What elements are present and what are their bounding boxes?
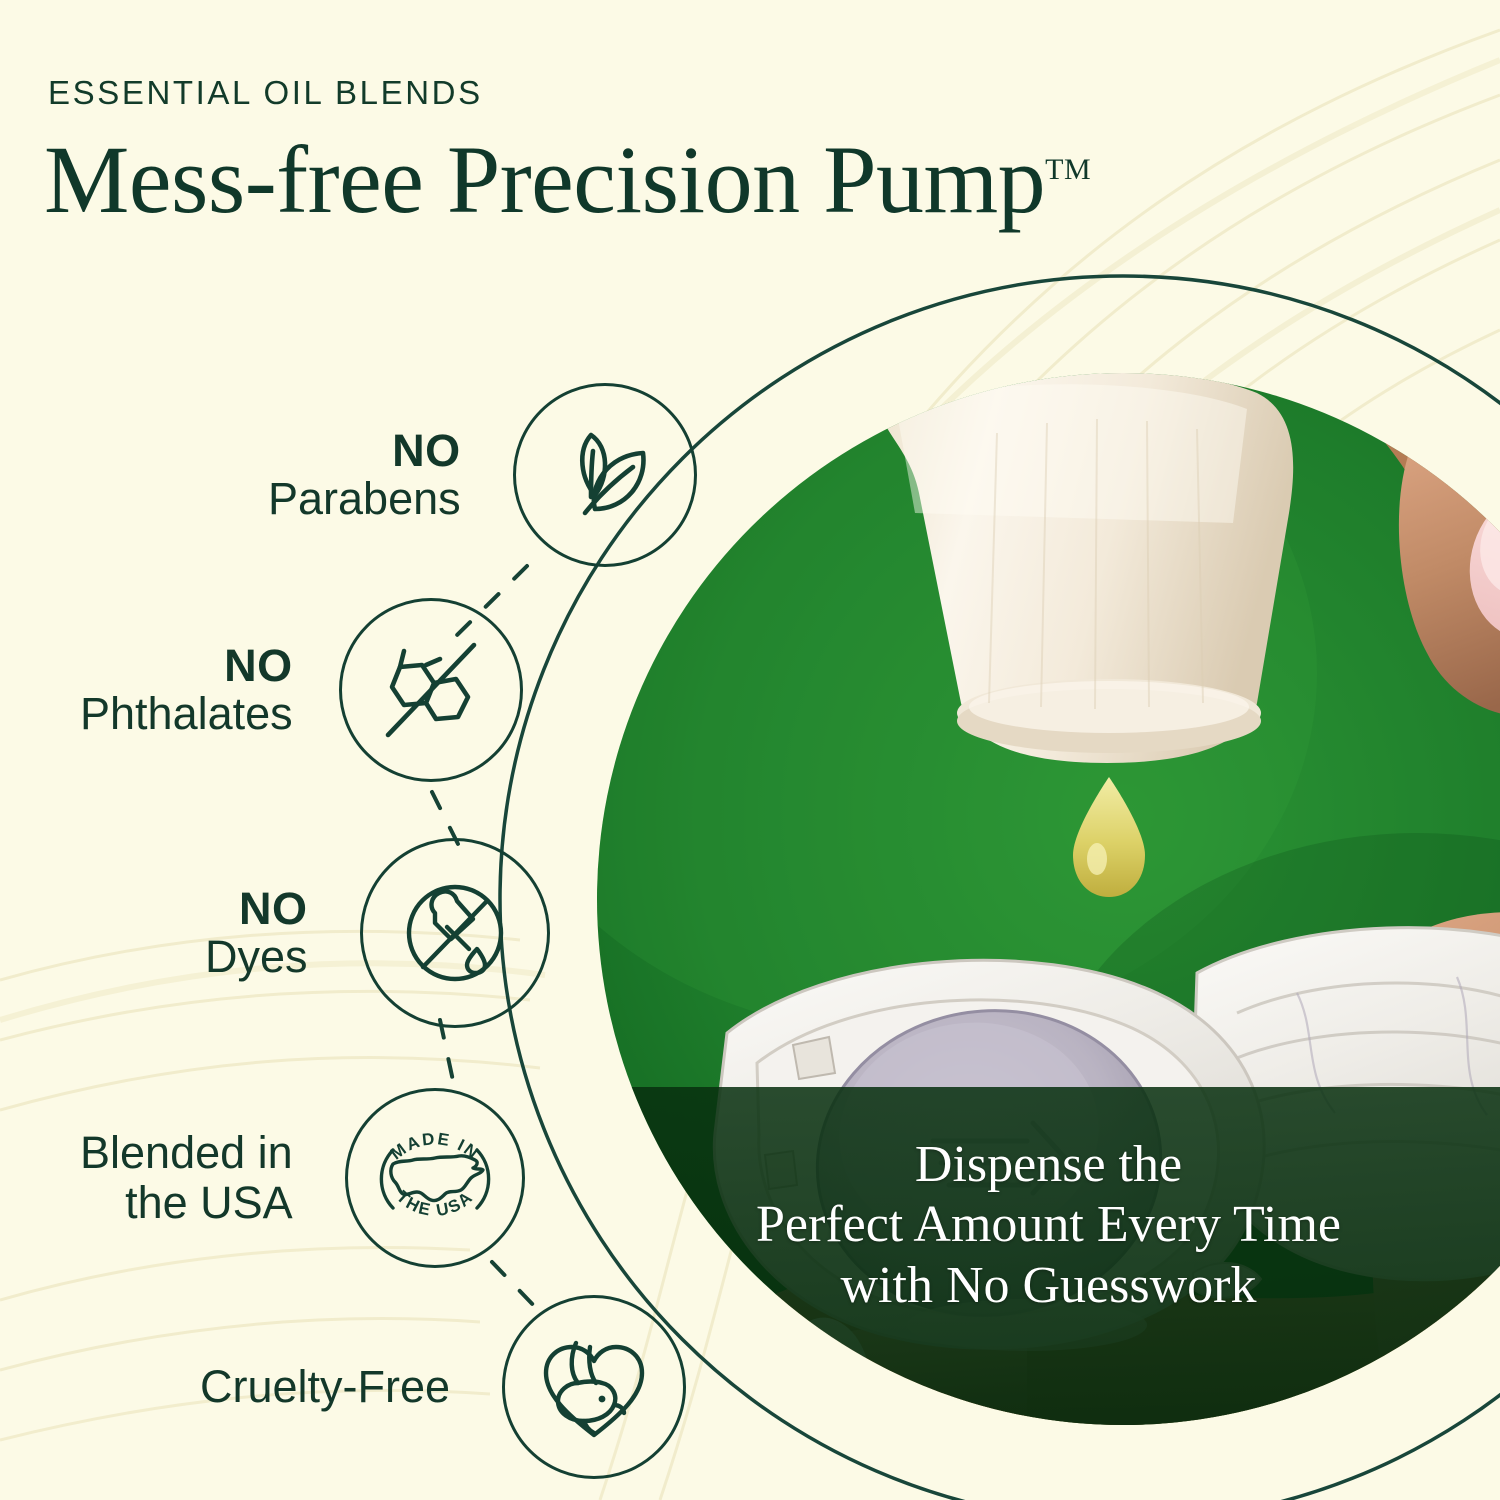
feature-prefix: NO: [268, 427, 461, 475]
no-molecule-icon: [339, 598, 523, 782]
page-title: Mess-free Precision PumpTM: [44, 124, 1091, 235]
leaf-icon-glyph: [547, 417, 663, 533]
no-dropper-icon-glyph: [387, 865, 523, 1001]
feature-name: Parabens: [268, 475, 461, 523]
photo-caption: Dispense the Perfect Amount Every Time w…: [597, 1135, 1500, 1316]
eyebrow-text: ESSENTIAL OIL BLENDS: [48, 74, 483, 112]
feature-cruelty-free: Cruelty-Free: [200, 1295, 686, 1479]
feature-no-phthalates: NO Phthalates: [80, 598, 523, 782]
feature-label-parabens: NO Parabens: [268, 427, 461, 522]
headline-text: Mess-free Precision Pump: [44, 126, 1045, 233]
feature-prefix: NO: [205, 885, 308, 933]
feature-blended-in-usa: Blended in the USA MADE IN THE USA: [80, 1088, 525, 1268]
feature-name: Dyes: [205, 933, 308, 981]
leaf-icon: [513, 383, 697, 567]
feature-label-phthalates: NO Phthalates: [80, 642, 293, 737]
badge-bottom-text: THE USA: [393, 1187, 477, 1220]
feature-label-dyes: NO Dyes: [205, 885, 308, 980]
made-in-usa-badge-icon: MADE IN THE USA: [345, 1088, 525, 1268]
no-dropper-icon: [360, 838, 550, 1028]
feature-label-usa: Blended in the USA: [80, 1128, 293, 1229]
feature-no-dyes: NO Dyes: [205, 838, 550, 1028]
caption-line-3: with No Guesswork: [597, 1256, 1500, 1316]
bunny-heart-icon: [502, 1295, 686, 1479]
made-in-usa-badge-glyph: MADE IN THE USA: [355, 1098, 515, 1258]
caption-line-2: Perfect Amount Every Time: [597, 1195, 1500, 1255]
caption-line-1: Dispense the: [597, 1135, 1500, 1195]
bunny-heart-icon-glyph: [532, 1325, 656, 1449]
feature-name: Phthalates: [80, 690, 293, 738]
feature-name-line-1: Blended in: [80, 1128, 293, 1178]
infographic-canvas: ESSENTIAL OIL BLENDS Mess-free Precision…: [0, 0, 1500, 1500]
feature-name: Cruelty-Free: [200, 1363, 450, 1411]
no-molecule-icon-glyph: [370, 629, 492, 751]
feature-label-cruelty: Cruelty-Free: [200, 1363, 450, 1411]
feature-no-parabens: NO Parabens: [268, 383, 697, 567]
feature-prefix: NO: [80, 642, 293, 690]
svg-text:THE USA: THE USA: [393, 1187, 477, 1220]
feature-name-line-2: the USA: [80, 1178, 293, 1228]
trademark-symbol: TM: [1045, 153, 1091, 186]
